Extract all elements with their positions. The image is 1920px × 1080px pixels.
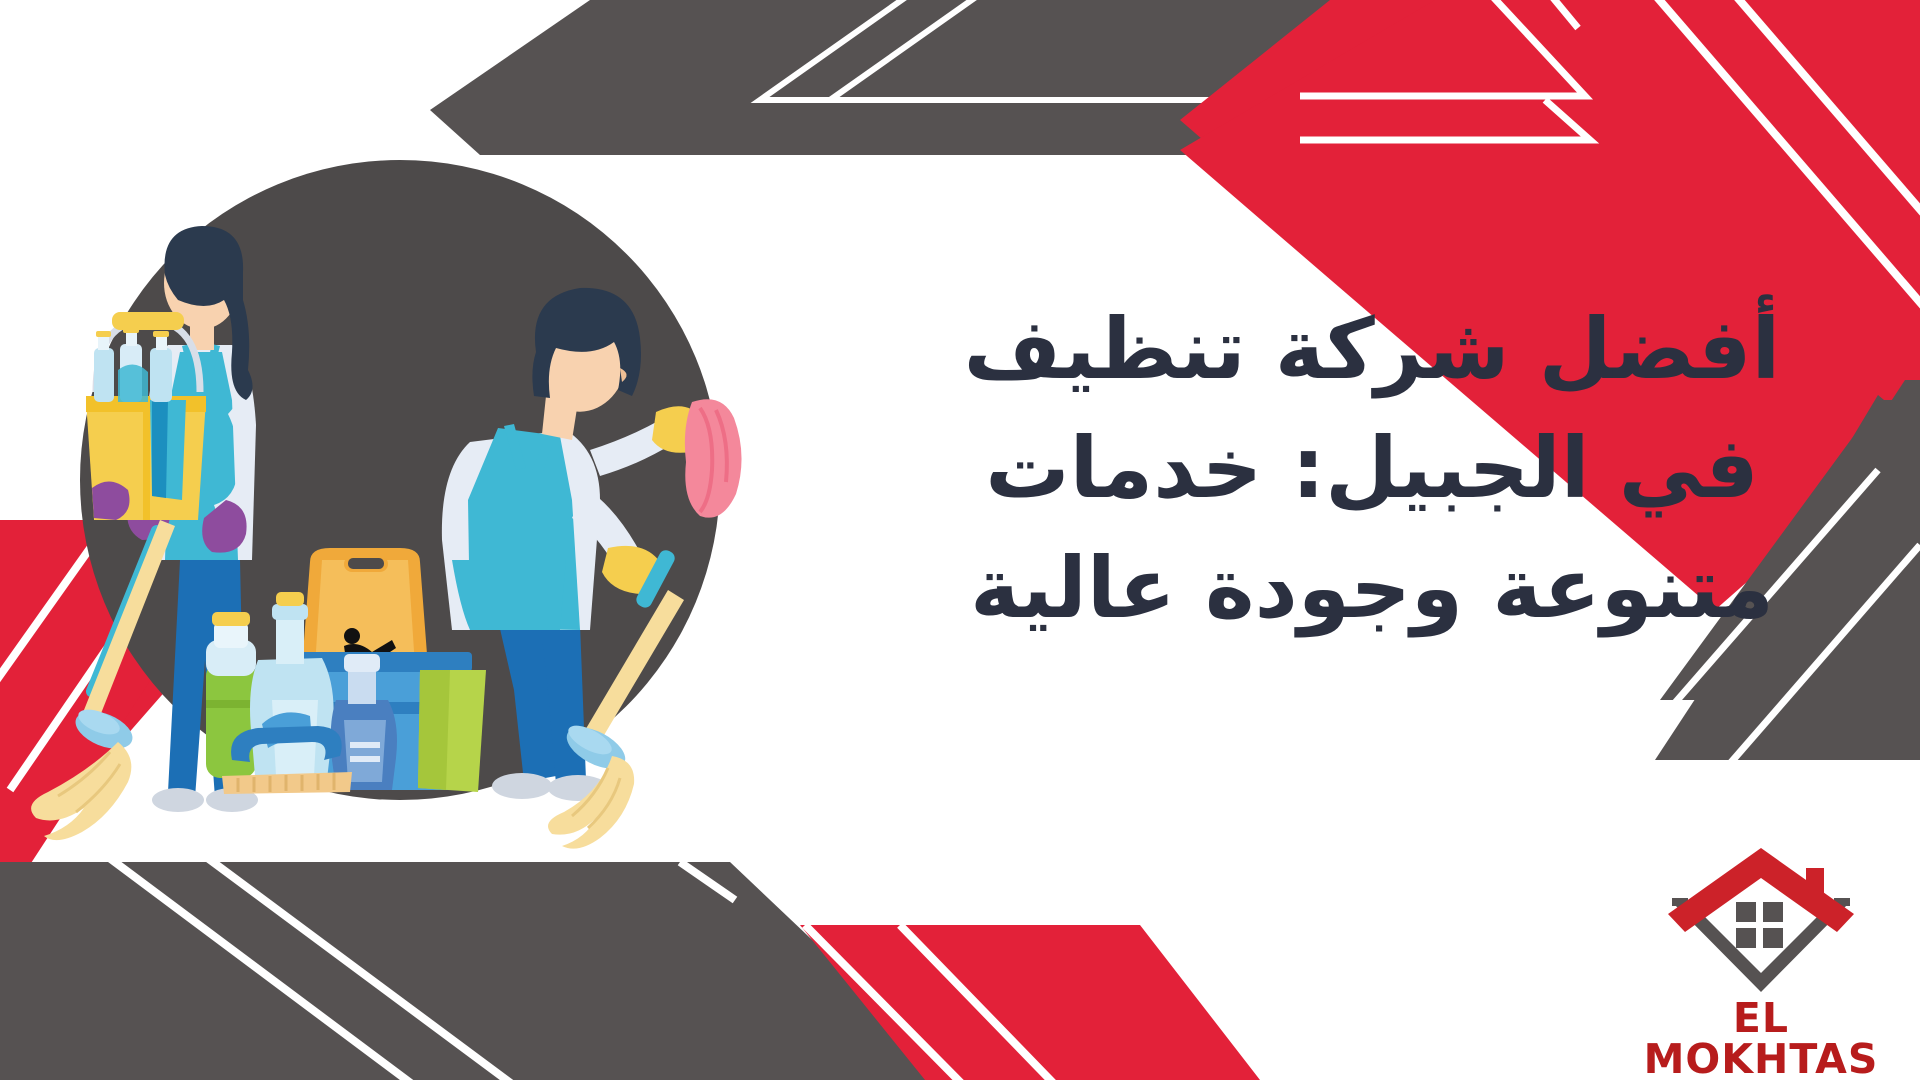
pink-duster — [685, 399, 742, 517]
banner-canvas: أفضل شركة تنظيف في الجبيل: خدمات متنوعة … — [0, 0, 1920, 1080]
headline-block: أفضل شركة تنظيف في الجبيل: خدمات متنوعة … — [902, 290, 1842, 648]
headline-line-1: أفضل شركة تنظيف — [902, 290, 1842, 409]
brand-logo[interactable]: EL MOKHTAS — [1636, 842, 1886, 1067]
spray-bottles — [94, 327, 172, 402]
house-diamond-logo-icon — [1636, 842, 1886, 994]
logo-wordmark: EL MOKHTAS — [1636, 998, 1886, 1080]
headline-line-3: متنوعة وجودة عالية — [902, 529, 1842, 648]
headline-line-2: في الجبيل: خدمات — [902, 409, 1842, 528]
